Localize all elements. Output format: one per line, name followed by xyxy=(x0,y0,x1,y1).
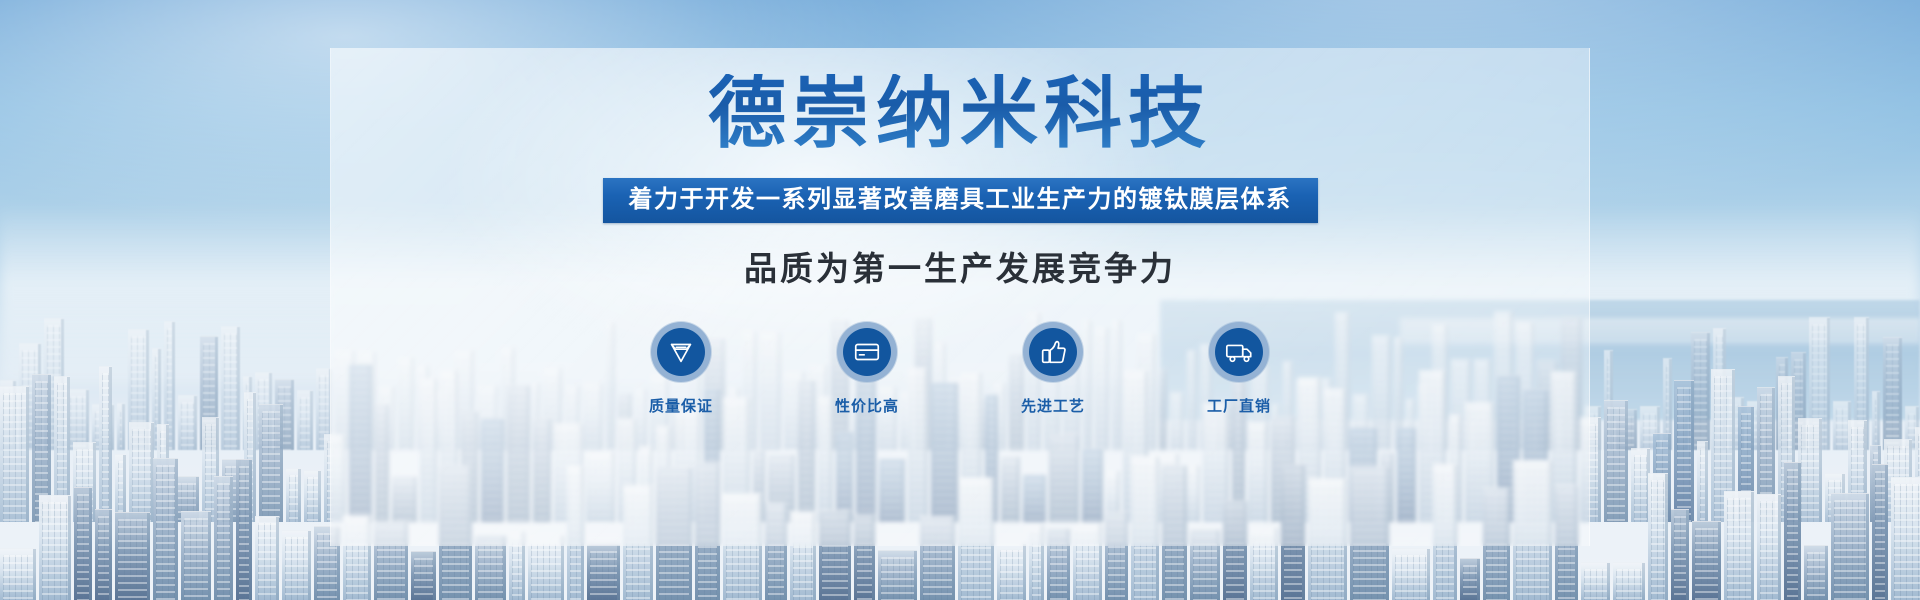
feature-label: 性价比高 xyxy=(815,395,919,416)
truck-icon xyxy=(1209,322,1269,382)
tagline: 品质为第一生产发展竞争力 xyxy=(0,251,1920,287)
feature-item-craft[interactable]: 先进工艺 xyxy=(1001,322,1105,416)
feature-label: 先进工艺 xyxy=(1001,395,1105,416)
feature-item-quality[interactable]: 质量保证 xyxy=(629,322,733,416)
banner-content: 德崇纳米科技 着力于开发一系列显著改善磨具工业生产力的镀钛膜层体系 品质为第一生… xyxy=(0,0,1920,416)
hero-banner: 德崇纳米科技 着力于开发一系列显著改善磨具工业生产力的镀钛膜层体系 品质为第一生… xyxy=(0,0,1920,600)
thumbs-up-icon xyxy=(1023,322,1083,382)
feature-item-value[interactable]: 性价比高 xyxy=(815,322,919,416)
feature-label: 质量保证 xyxy=(629,395,733,416)
subtitle-bar: 着力于开发一系列显著改善磨具工业生产力的镀钛膜层体系 xyxy=(603,178,1318,223)
feature-label: 工厂直销 xyxy=(1187,395,1291,416)
feature-item-factory[interactable]: 工厂直销 xyxy=(1187,322,1291,416)
diamond-icon xyxy=(651,322,711,382)
page-title: 德崇纳米科技 xyxy=(0,74,1920,152)
credit-card-icon xyxy=(837,322,897,382)
feature-list: 质量保证 性价比高 xyxy=(0,322,1920,416)
